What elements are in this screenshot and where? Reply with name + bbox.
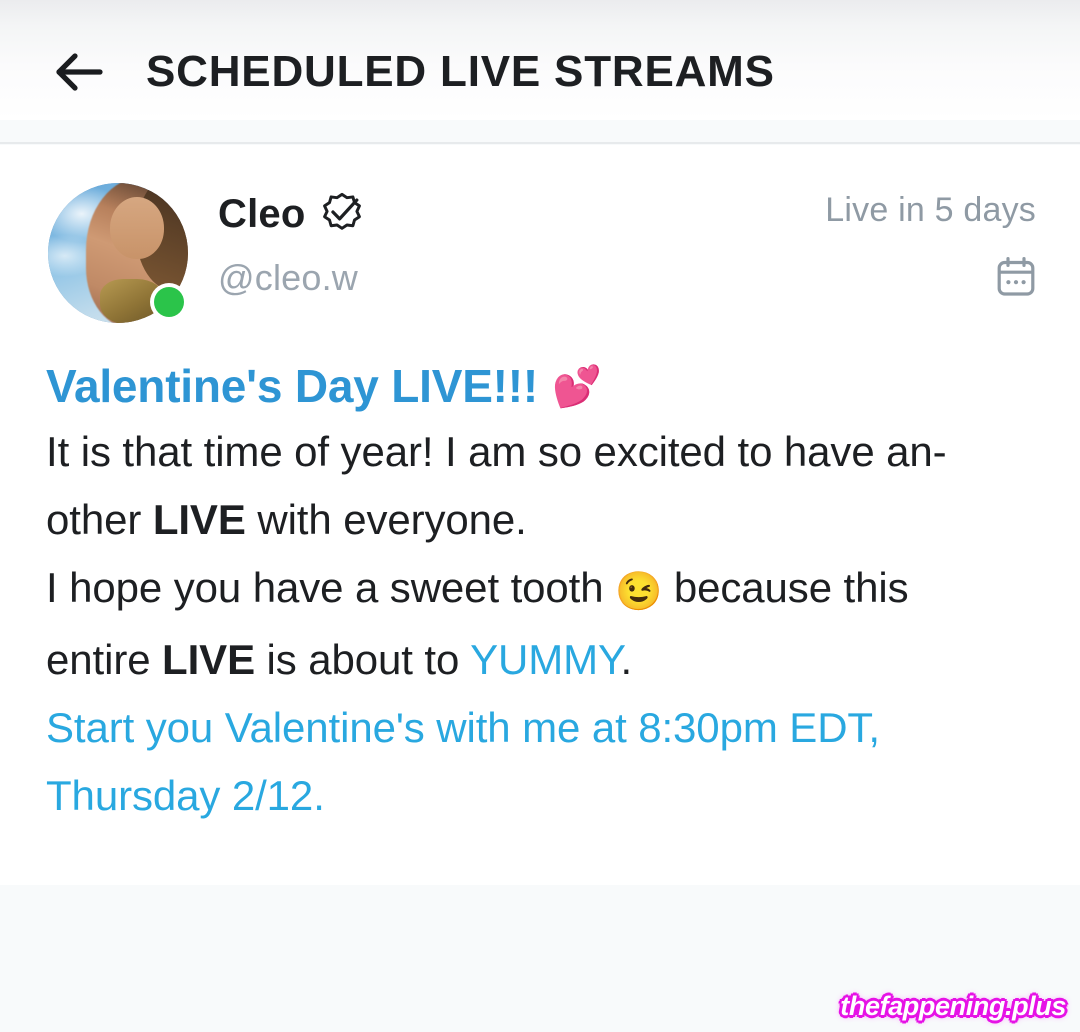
page-title: SCHEDULED LIVE STREAMS	[146, 47, 775, 97]
post-line-4-highlight: YUMMY	[470, 636, 620, 683]
post-line-2: other LIVE with everyone.	[46, 486, 1046, 554]
avatar-face	[110, 197, 164, 259]
app-header: SCHEDULED LIVE STREAMS	[0, 0, 1080, 143]
verified-badge-icon	[321, 191, 363, 238]
avatar[interactable]	[48, 183, 188, 323]
post-title-text: Valentine's Day LIVE!!!	[46, 360, 538, 412]
arrow-left-icon	[48, 41, 110, 103]
header-divider	[0, 142, 1080, 144]
post-line-4-text-b: is about to	[255, 636, 470, 683]
scheduled-stream-card[interactable]: Cleo @cleo.w Live in 5 days	[0, 145, 1080, 885]
display-name: Cleo	[218, 192, 305, 237]
post-title: Valentine's Day LIVE!!!💕	[46, 355, 1046, 418]
online-status-dot	[154, 287, 184, 317]
post-line-6: Thursday 2/12.	[46, 762, 1046, 830]
post-line-1-text: It is that time of year! I am so excited…	[46, 428, 947, 475]
post-line-1: It is that time of year! I am so excited…	[46, 418, 1046, 486]
back-button[interactable]	[48, 41, 110, 103]
two-hearts-emoji: 💕	[552, 365, 602, 409]
site-watermark: thefappening.plus	[840, 991, 1066, 1022]
stream-meta: Live in 5 days	[776, 191, 1036, 298]
post-line-3-text-a: I hope you have a sweet tooth	[46, 564, 615, 611]
name-block: Cleo @cleo.w	[218, 189, 363, 299]
calendar-button[interactable]	[776, 256, 1036, 298]
name-line: Cleo	[218, 189, 363, 239]
post-line-4-text-c: .	[620, 636, 632, 683]
post-line-4-bold: LIVE	[162, 636, 255, 683]
post-line-5: Start you Valentine's with me at 8:30pm …	[46, 694, 1046, 762]
post-line-3: I hope you have a sweet tooth 😉 because …	[46, 554, 1046, 626]
winking-face-emoji: 😉	[615, 571, 662, 613]
calendar-icon	[996, 256, 1036, 298]
post-line-3-text-b: because this	[662, 564, 908, 611]
post-line-4-text-a: entire	[46, 636, 162, 683]
profile-row: Cleo @cleo.w Live in 5 days	[0, 183, 1080, 331]
live-countdown: Live in 5 days	[776, 191, 1036, 230]
post-line-4: entire LIVE is about to YUMMY.	[46, 626, 1046, 694]
handle: @cleo.w	[218, 257, 363, 299]
post-line-2-text-a: other	[46, 496, 153, 543]
post-body: Valentine's Day LIVE!!!💕 It is that time…	[46, 355, 1046, 830]
post-line-2-text-b: with everyone.	[246, 496, 527, 543]
post-line-2-bold: LIVE	[153, 496, 246, 543]
